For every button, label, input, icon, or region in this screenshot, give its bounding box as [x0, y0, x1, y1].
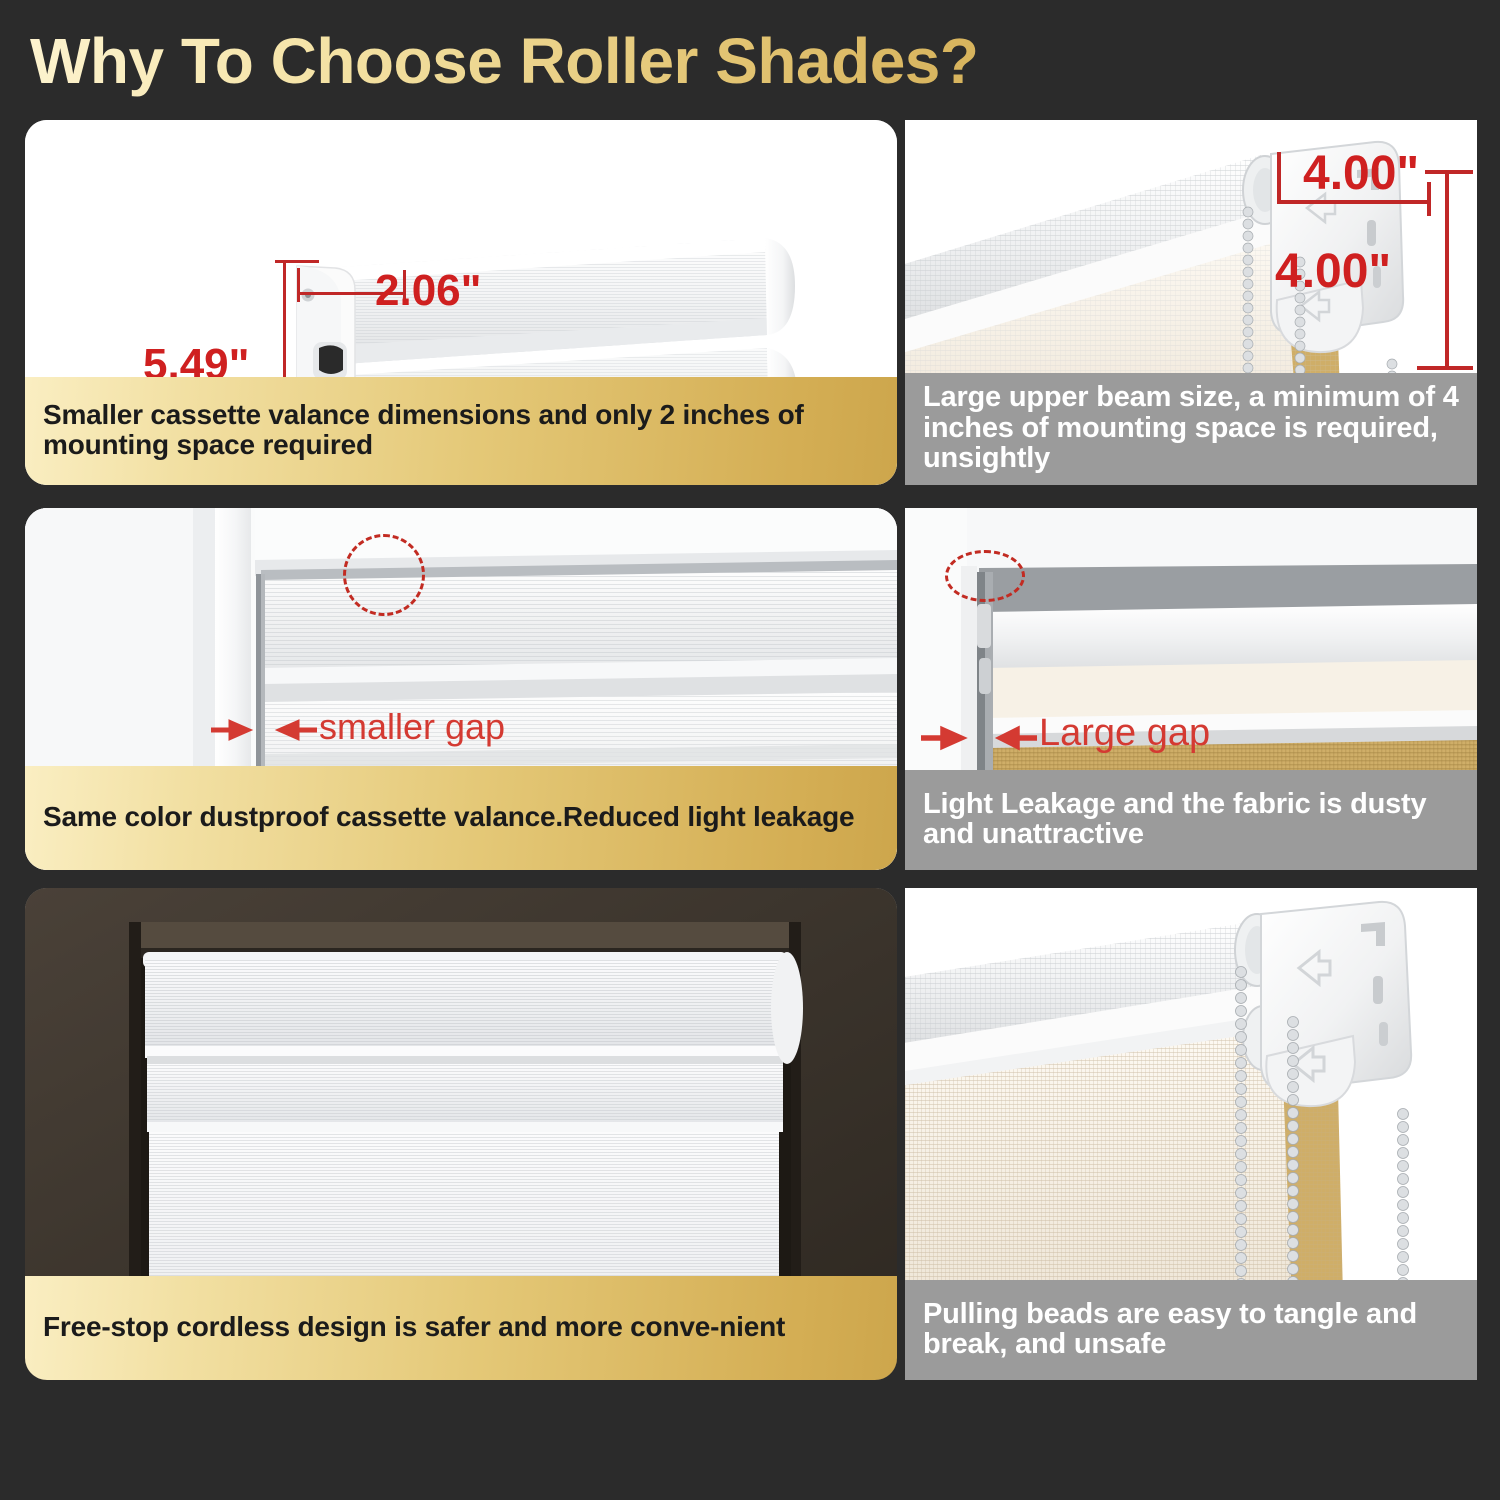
large-gap-label: Large gap [1039, 712, 1210, 755]
panel-pulling-beads: Pulling beads are easy to tangle and bre… [905, 888, 1477, 1380]
panel-cordless-design: Free-stop cordless design is safer and m… [25, 888, 897, 1380]
height-dim-tick-top [275, 260, 319, 263]
panel-large-beam: 4.00" 4.00" Large upper beam size, a min… [905, 120, 1477, 485]
beam-width-tick-right [1427, 182, 1431, 216]
beam-width-tick-left [1277, 152, 1281, 204]
panel-caption-bad: Light Leakage and the fabric is dusty an… [905, 770, 1477, 870]
width-dim-tick-left [297, 268, 300, 302]
panel-large-gap: Large gap Light Leakage and the fabric i… [905, 508, 1477, 870]
gap-highlight-circle [343, 534, 425, 616]
caption-text: Large upper beam size, a minimum of 4 in… [923, 382, 1461, 473]
panel-caption-good: Same color dustproof cassette valance.Re… [25, 766, 897, 870]
caption-text: Pulling beads are easy to tangle and bre… [923, 1299, 1461, 1360]
width-dimension-label: 2.06" [375, 266, 482, 316]
page-title: Why To Choose Roller Shades? [30, 22, 1130, 100]
beam-width-label: 4.00" [1303, 146, 1419, 201]
infographic-root: Why To Choose Roller Shades? [0, 0, 1500, 1500]
panel-caption-good: Free-stop cordless design is safer and m… [25, 1276, 897, 1380]
panel-caption-good: Smaller cassette valance dimensions and … [25, 377, 897, 485]
panel-smaller-gap: smaller gap Same color dustproof cassett… [25, 508, 897, 870]
panel-caption-bad: Pulling beads are easy to tangle and bre… [905, 1280, 1477, 1380]
gap-highlight-circle [945, 550, 1025, 602]
smaller-gap-label: smaller gap [319, 706, 505, 748]
caption-text: Same color dustproof cassette valance.Re… [43, 802, 854, 832]
panel-cassette-dimensions: 2.06" 5.49" Smaller cassette valance dim… [25, 120, 897, 485]
beam-height-tick-bottom [1417, 366, 1473, 370]
panel-caption-bad: Large upper beam size, a minimum of 4 in… [905, 373, 1477, 485]
caption-text: Light Leakage and the fabric is dusty an… [923, 789, 1461, 850]
beam-height-dim-line [1445, 170, 1449, 370]
beam-height-label: 4.00" [1275, 244, 1391, 299]
beam-height-tick-top [1425, 170, 1473, 174]
caption-text: Smaller cassette valance dimensions and … [43, 400, 881, 460]
caption-text: Free-stop cordless design is safer and m… [43, 1312, 785, 1342]
